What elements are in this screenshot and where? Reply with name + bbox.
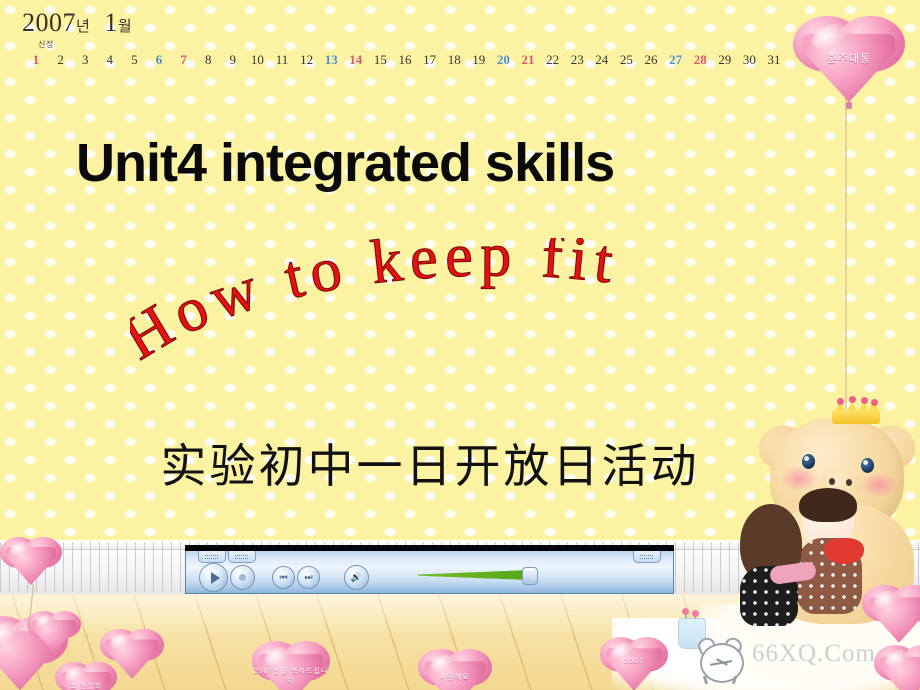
calendar-day-4[interactable]: 4 [107,52,114,68]
calendar-day-5[interactable]: 5 [131,52,138,68]
calendar-day-21[interactable]: 21 [522,52,535,68]
slide-canvas: 2007년 1월 신정 1234567891011121314151617181… [0,0,920,690]
calendar-day-17[interactable]: 17 [423,52,436,68]
media-player-bar[interactable]: ⏮ ⏭ 🔊 [185,545,674,594]
balloon-heart-shape [862,584,920,644]
vase-flower-1 [682,608,689,615]
calendar-day-7[interactable]: 7 [180,52,187,68]
calendar-day-list[interactable]: 1234567891011121314151617181920212223242… [36,52,796,74]
volume-slider-thumb[interactable] [522,567,538,585]
subtitle-chinese: 实验初中一日开放日活动 [140,430,720,496]
balloon-heart-shape [27,610,81,654]
balloon-heart-shape [418,648,492,690]
calendar-strip: 2007년 1월 신정 1234567891011121314151617181… [0,0,920,78]
vase-flower-2 [692,610,699,617]
calendar-month-number: 1 [104,8,118,37]
calendar-day-23[interactable]: 23 [571,52,584,68]
pig-crown [832,398,880,424]
mute-button[interactable]: 🔊 [344,565,369,590]
calendar-day-2[interactable]: 2 [57,52,64,68]
kid-girl [734,502,806,624]
stop-button[interactable] [230,565,255,590]
wordart-how-to-keep-fit: How to keep fit [130,238,780,368]
calendar-day-27[interactable]: 27 [669,52,682,68]
clock-leg-right [732,676,737,685]
previous-button[interactable]: ⏮ [272,566,295,589]
balloon-heart-shape [252,640,330,690]
calendar-day-16[interactable]: 16 [399,52,412,68]
play-button[interactable] [199,563,228,592]
next-button[interactable]: ⏭ [297,566,320,589]
crown-base [832,410,880,424]
calendar-day-10[interactable]: 10 [251,52,264,68]
boy-scarf [824,538,864,564]
pig-blush-right [860,472,898,498]
calendar-day-8[interactable]: 8 [205,52,212,68]
stop-icon [231,566,254,589]
site-watermark: 66XQ.Com [752,640,876,668]
calendar-day-26[interactable]: 26 [645,52,658,68]
balloon-heart-shape [100,628,164,680]
wordart-text: How to keep fit [130,238,623,368]
balloon-knot [846,102,853,108]
calendar-day-14[interactable]: 14 [349,52,362,68]
calendar-day-28[interactable]: 28 [694,52,707,68]
balloon-string-top [845,96,847,414]
balloon-floor-5: 2007년을 축하드립니다 [252,640,330,690]
calendar-day-22[interactable]: 22 [546,52,559,68]
calendar-day-18[interactable]: 18 [448,52,461,68]
balloon-floor-4 [100,628,164,680]
volume-slider[interactable] [418,567,570,583]
calendar-day-31[interactable]: 31 [768,52,781,68]
balloon-right-2 [874,644,920,690]
balloon-heart-shape [0,536,62,586]
balloon-floor-7: 2007 [600,636,668,690]
next-icon: ⏭ [298,567,319,588]
tab-grip-icon [235,555,248,559]
calendar-year-suffix: 년 [76,19,90,35]
calendar-day-19[interactable]: 19 [472,52,485,68]
calendar-day-1[interactable]: 1 [33,52,40,68]
player-tab-left-b[interactable] [228,551,256,563]
calendar-day-15[interactable]: 15 [374,52,387,68]
calendar-day-29[interactable]: 29 [718,52,731,68]
calendar-month-suffix: 월 [118,19,132,35]
balloon-floor-2 [27,610,81,654]
pig-eye-right [861,458,874,473]
alarm-clock-icon [697,638,743,684]
calendar-day-24[interactable]: 24 [595,52,608,68]
speaker-icon: 🔊 [345,566,368,589]
calendar-day-20[interactable]: 20 [497,52,510,68]
calendar-day-30[interactable]: 30 [743,52,756,68]
calendar-month-label: 2007년 1월 [22,8,132,38]
balloon-left-wall [0,536,62,586]
player-body: ⏮ ⏭ 🔊 [185,551,674,594]
balloon-heart-shape [874,644,920,690]
balloon-top-right: 훈주대통 [793,14,905,104]
balloon-heart-shape [600,636,668,690]
calendar-day-3[interactable]: 3 [82,52,89,68]
play-icon [200,564,227,591]
boy-hair [799,488,857,522]
previous-icon: ⏮ [273,567,294,588]
balloon-right-1 [862,584,920,644]
calendar-day-6[interactable]: 6 [156,52,163,68]
player-tab-right[interactable] [633,551,661,563]
calendar-day-9[interactable]: 9 [230,52,237,68]
calendar-day-12[interactable]: 12 [300,52,313,68]
tab-grip-icon [640,555,653,559]
page-title: Unit4 integrated skills [76,132,614,194]
calendar-year: 2007 [22,8,76,37]
tab-grip-icon [205,555,218,559]
calendar-holiday-label: 신정 [38,39,54,50]
clock-face [700,643,744,683]
balloon-floor-6: 사랑해요 [418,648,492,690]
balloon-heart-shape [793,14,905,104]
calendar-day-13[interactable]: 13 [325,52,338,68]
calendar-day-11[interactable]: 11 [276,52,289,68]
calendar-day-25[interactable]: 25 [620,52,633,68]
volume-level-fill [418,570,530,580]
player-tab-left-a[interactable] [198,551,226,563]
